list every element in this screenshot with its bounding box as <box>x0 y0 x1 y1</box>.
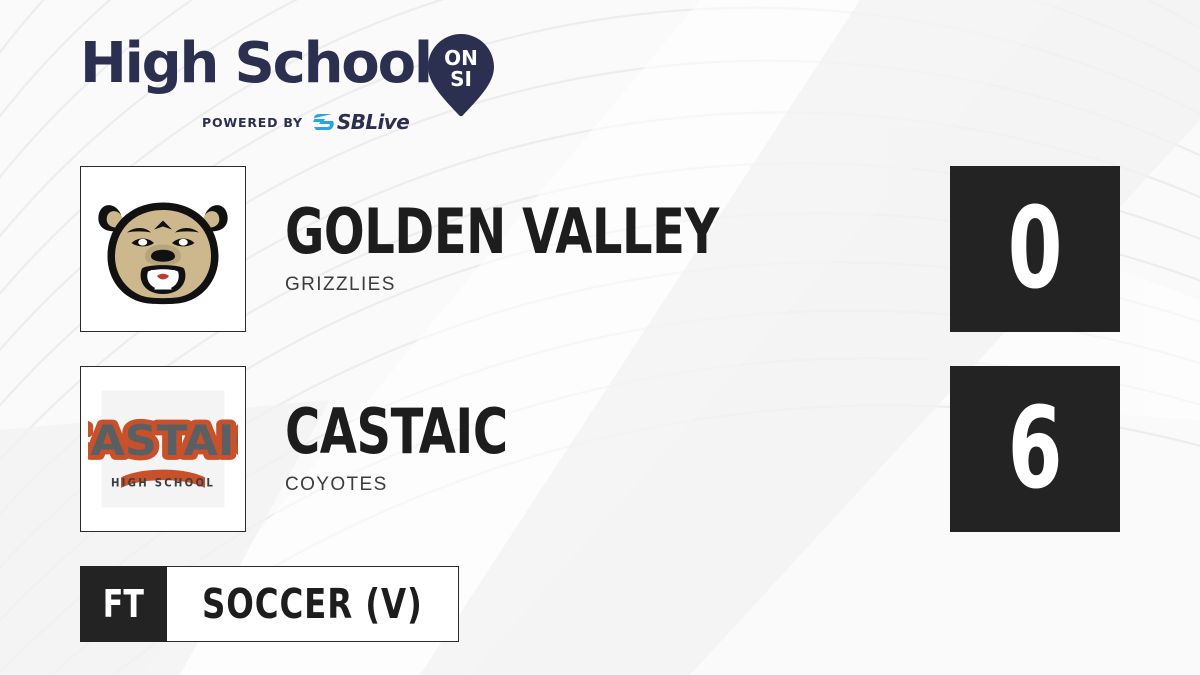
status-period-text: FT <box>103 582 144 626</box>
team-name: CASTAIC <box>285 402 508 463</box>
brand-wordmark: High School <box>80 36 431 92</box>
castaic-logo-text: CASTAIC <box>88 416 238 465</box>
scoreboard-graphic: High School ON SI POWERED BY SBLive <box>0 0 1200 675</box>
team-logo-card <box>80 166 246 332</box>
castaic-logo-subtext: HIGH SCHOOL <box>111 477 215 490</box>
team-score: 6 <box>1008 393 1063 505</box>
powered-by-label: POWERED BY <box>202 115 303 130</box>
team-name: GOLDEN VALLEY <box>285 202 719 263</box>
team-score-box: 6 <box>950 366 1120 532</box>
team-row: CASTAIC CASTAIC HIGH SCHOOL CASTAIC COYO… <box>80 366 1120 534</box>
game-status-bar: FT SOCCER (V) <box>80 566 459 642</box>
status-period-badge: FT <box>80 566 167 642</box>
team-row: GOLDEN VALLEY GRIZZLIES 0 <box>80 166 1120 334</box>
castaic-high-school-wordmark-logo: CASTAIC CASTAIC HIGH SCHOOL <box>88 374 238 524</box>
sblive-logo: SBLive <box>312 112 409 132</box>
team-mascot: GRIZZLIES <box>285 274 789 296</box>
grizzly-bear-head-logo <box>88 174 238 324</box>
team-info: CASTAIC COYOTES <box>285 366 544 532</box>
sblive-s-icon <box>312 112 334 132</box>
team-logo-card: CASTAIC CASTAIC HIGH SCHOOL <box>80 366 246 532</box>
brand-header: High School ON SI POWERED BY SBLive <box>80 36 520 132</box>
powered-by-row: POWERED BY SBLive <box>202 112 409 132</box>
sblive-wordmark: SBLive <box>337 112 409 132</box>
team-score: 0 <box>1008 193 1063 305</box>
status-sport-text: SOCCER (V) <box>202 580 423 628</box>
team-info: GOLDEN VALLEY GRIZZLIES <box>285 166 789 332</box>
team-mascot: COYOTES <box>285 474 544 496</box>
team-score-box: 0 <box>950 166 1120 332</box>
status-sport-panel: SOCCER (V) <box>167 566 459 642</box>
badge-line-si: SI <box>450 67 472 91</box>
on-si-map-pin-icon: ON SI <box>425 32 497 118</box>
